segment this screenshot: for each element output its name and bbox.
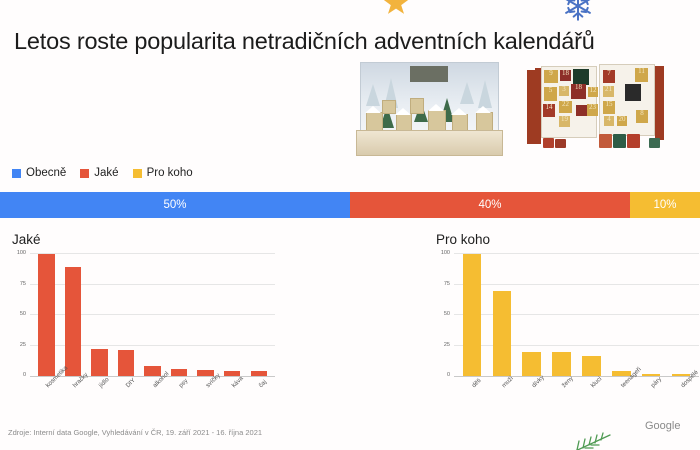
bar-diy[interactable] — [118, 350, 134, 376]
bar-kluci[interactable] — [582, 356, 601, 376]
bar-slot — [60, 254, 87, 376]
bar-slot — [636, 254, 666, 376]
chart-pro-koho-ytick-0: 0 — [447, 372, 450, 378]
xlabel-kluci: kluci — [590, 375, 604, 389]
bar-slot — [139, 254, 166, 376]
chart-jake-ytick-75: 75 — [20, 281, 26, 287]
bar-svicky[interactable] — [197, 370, 213, 376]
chart-pro-koho-ytick-25: 25 — [444, 342, 450, 348]
chart-jake-bars — [30, 254, 275, 376]
bar-slot — [33, 254, 60, 376]
stacked-segment-obecne[interactable]: 50% — [0, 192, 350, 218]
chart-jake-plot: 100 75 50 25 0 — [30, 254, 275, 377]
chart-pro-koho-ytick-75: 75 — [444, 281, 450, 287]
xlabel-muzi: muži — [500, 375, 514, 389]
pine-branch-icon — [570, 432, 612, 450]
bar-slot — [219, 254, 246, 376]
chart-jake: Jaké 100 75 50 25 0 kosmetika hračky jíd… — [8, 232, 293, 432]
bar-slot — [577, 254, 607, 376]
slide-canvas: Letos roste popularita netradičních adve… — [0, 0, 700, 450]
legend-swatch-pro-koho — [133, 169, 142, 178]
advent-calendar-village-photo — [352, 58, 507, 164]
legend-swatch-jake — [80, 169, 89, 178]
bar-slot — [166, 254, 193, 376]
bar-jidlo[interactable] — [91, 349, 107, 376]
bar-zeny[interactable] — [552, 352, 571, 376]
bar-hracky[interactable] — [65, 267, 81, 376]
bar-kosmetika[interactable] — [38, 254, 54, 376]
chart-pro-koho-ytick-50: 50 — [444, 311, 450, 317]
legend-label-jake: Jaké — [94, 167, 118, 179]
bar-psy[interactable] — [171, 369, 187, 376]
bar-deti[interactable] — [463, 254, 482, 376]
stacked-segment-pro-koho-value: 10% — [653, 199, 676, 211]
bar-slot — [246, 254, 273, 376]
xlabel-zeny: ženy — [560, 375, 574, 389]
source-note: Zdroje: Interní data Google, Vyhledávání… — [8, 428, 262, 437]
bar-slot — [547, 254, 577, 376]
share-split-stacked-bar: 50% 40% 10% — [0, 192, 700, 218]
chart-pro-koho-plot: 100 75 50 25 0 — [454, 254, 699, 377]
snowflake-icon — [563, 0, 593, 21]
advent-calendar-book-photo: 9 18 5 3 18 12 14 22 19 23 7 11 21 15 4 … — [521, 58, 669, 164]
bar-slot — [86, 254, 113, 376]
legend-swatch-obecne — [12, 169, 21, 178]
chart-pro-koho-title: Pro koho — [436, 232, 700, 247]
google-wordmark: Google — [645, 420, 680, 432]
xlabel-jidlo: jídlo — [98, 376, 111, 389]
chart-jake-ytick-100: 100 — [17, 250, 26, 256]
chart-pro-koho-xlabels: děti muži dívky ženy kluci teenageři pár… — [454, 377, 699, 423]
xlabel-caj: čaj — [257, 379, 268, 390]
xlabel-diy: DIY — [125, 377, 137, 389]
chart-jake-ytick-25: 25 — [20, 342, 26, 348]
xlabel-deti: děti — [471, 377, 483, 389]
stacked-segment-obecne-value: 50% — [163, 199, 186, 211]
star-icon — [383, 0, 409, 16]
bar-alkohol[interactable] — [144, 366, 160, 376]
legend-item-pro-koho[interactable]: Pro koho — [133, 167, 193, 179]
legend-item-jake[interactable]: Jaké — [80, 167, 118, 179]
legend-label-obecne: Obecně — [26, 167, 66, 179]
legend-item-obecne[interactable]: Obecně — [12, 167, 66, 179]
xlabel-kava: káva — [231, 375, 245, 389]
chart-jake-ytick-0: 0 — [23, 372, 26, 378]
xlabel-divky: dívky — [530, 374, 545, 389]
legend-label-pro-koho: Pro koho — [147, 167, 193, 179]
bar-slot — [666, 254, 696, 376]
chart-jake-title: Jaké — [12, 232, 293, 247]
bar-slot — [606, 254, 636, 376]
bar-slot — [487, 254, 517, 376]
chart-pro-koho-ytick-100: 100 — [441, 250, 450, 256]
bar-muzi[interactable] — [493, 291, 512, 376]
chart-jake-xlabels: kosmetika hračky jídlo DIY alkohol psy s… — [30, 377, 275, 423]
stacked-segment-pro-koho[interactable]: 10% — [630, 192, 700, 218]
chart-legend: Obecně Jaké Pro koho — [12, 167, 193, 179]
stacked-segment-jake-value: 40% — [478, 199, 501, 211]
chart-jake-ytick-50: 50 — [20, 311, 26, 317]
stacked-segment-jake[interactable]: 40% — [350, 192, 630, 218]
bar-slot — [192, 254, 219, 376]
page-title: Letos roste popularita netradičních adve… — [14, 28, 595, 55]
bar-divky[interactable] — [522, 352, 541, 376]
bar-slot — [113, 254, 140, 376]
xlabel-pary: páry — [650, 376, 663, 389]
bar-slot — [457, 254, 487, 376]
bar-slot — [517, 254, 547, 376]
chart-pro-koho-bars — [454, 254, 699, 376]
chart-pro-koho: Pro koho 100 75 50 25 0 děti muži dívky … — [432, 232, 700, 432]
xlabel-psy: psy — [178, 377, 190, 389]
bar-caj[interactable] — [251, 371, 267, 376]
